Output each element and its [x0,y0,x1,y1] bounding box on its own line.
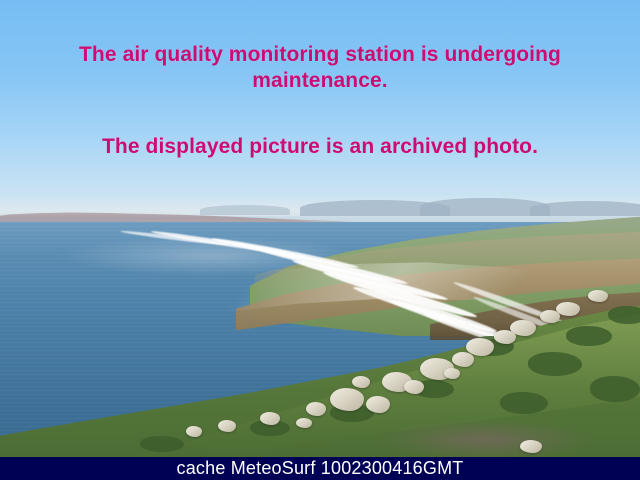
boulder [452,352,474,367]
scrub-bush [590,376,640,402]
dirt-patch [380,420,590,460]
webcam-image-frame: The air quality monitoring station is un… [0,0,640,480]
archived-photo-notice: The displayed picture is an archived pho… [0,134,640,160]
boulder [296,418,312,428]
boulder [260,412,280,425]
boulder [218,420,236,432]
boulder [588,290,608,302]
boulder [404,380,424,394]
sky-gradient [0,0,640,216]
boulder [366,396,390,413]
distant-mountain [200,205,290,215]
scrub-bush [566,326,612,346]
scrub-bush [608,306,640,324]
boulder [306,402,326,416]
caption-bar: cache MeteoSurf 1002300416GMT [0,457,640,480]
scrub-bush [500,392,548,414]
boulder [330,388,364,411]
distant-mountain [530,201,640,216]
maintenance-notice: The air quality monitoring station is un… [0,42,640,94]
boulder [352,376,370,388]
scrub-bush [528,352,582,376]
boulder [520,440,542,453]
boulder [494,330,516,344]
caption-text: cache MeteoSurf 1002300416GMT [177,457,464,480]
scrub-bush [140,436,184,452]
boulder [444,368,460,379]
boulder [186,426,202,437]
boulder [540,310,560,323]
